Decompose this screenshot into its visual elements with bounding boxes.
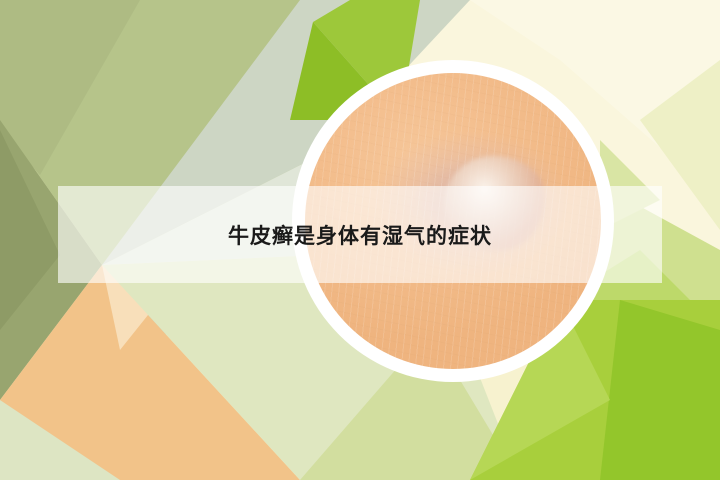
poster-canvas: 牛皮癣是身体有湿气的症状 xyxy=(0,0,720,480)
poly-right-deep-green xyxy=(600,300,720,480)
page-title: 牛皮癣是身体有湿气的症状 xyxy=(58,186,662,283)
